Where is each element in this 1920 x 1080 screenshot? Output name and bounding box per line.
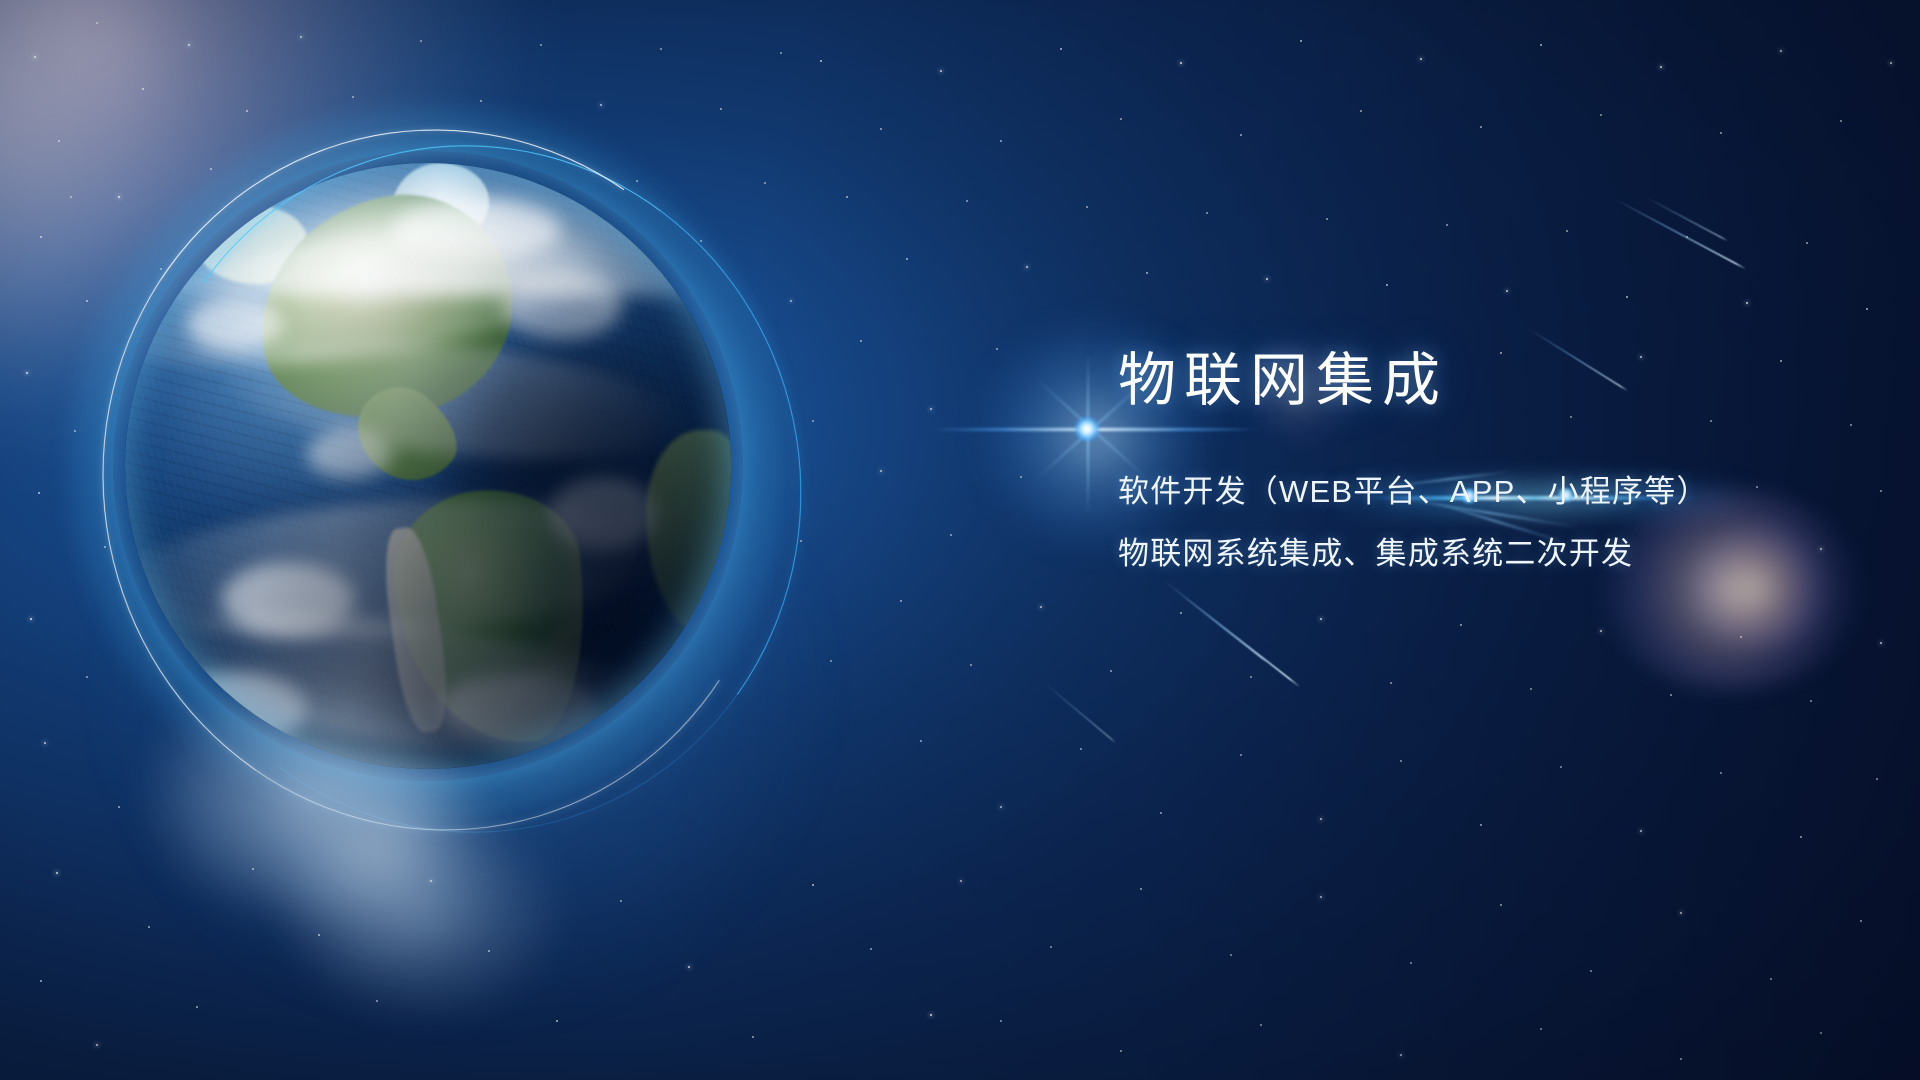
page-title: 物联网集成 [1118,352,1858,410]
banner-stage: 物联网集成 软件开发（WEB平台、APP、小程序等） 物联网系统集成、集成系统二… [0,0,1920,1080]
subtitle-line-2: 物联网系统集成、集成系统二次开发 [1118,530,1858,578]
banner-text-block: 物联网集成 软件开发（WEB平台、APP、小程序等） 物联网系统集成、集成系统二… [1118,352,1858,578]
subtitle-line-1: 软件开发（WEB平台、APP、小程序等） [1118,468,1858,516]
